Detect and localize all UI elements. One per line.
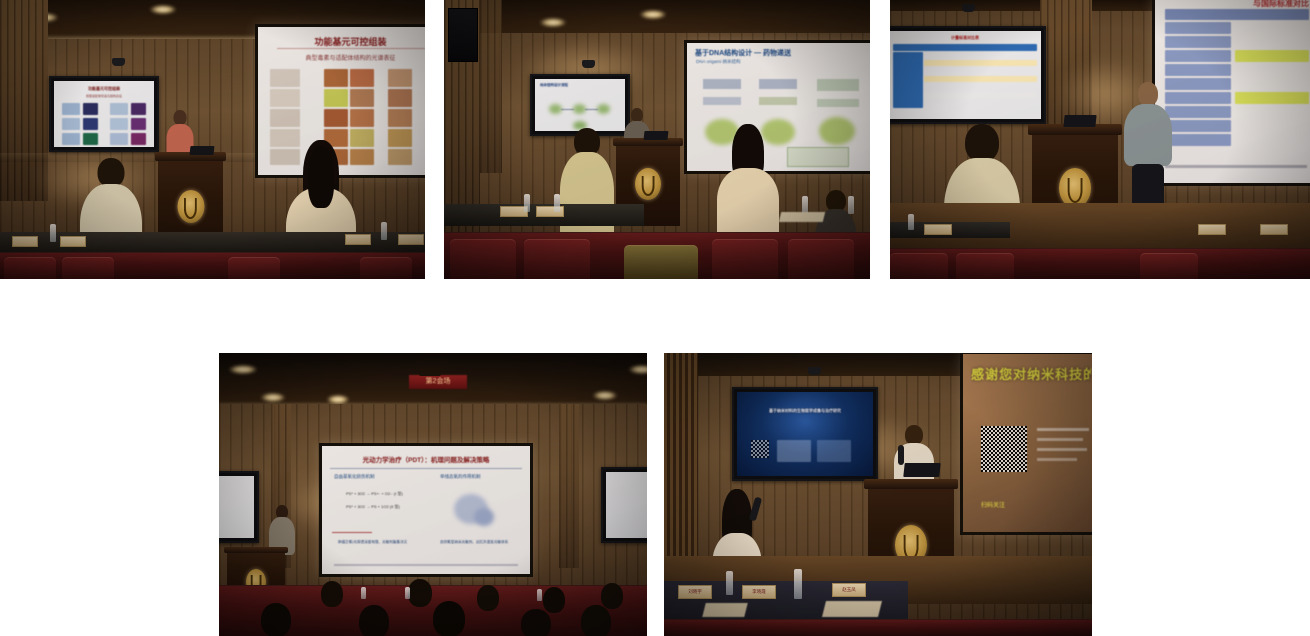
slide-divider [330,468,522,469]
curtain-left [664,353,698,557]
table-header [1165,9,1309,20]
slide-image-cell [388,89,412,107]
water-bottle [537,589,542,601]
ceiling-light [229,365,257,374]
name-placard: 刘晓宇 [678,585,712,599]
slide-divider [332,532,372,533]
presenter-torso [1124,104,1172,166]
tv-slide-cell [62,103,80,115]
tv-slide-cell [62,118,80,130]
podium-top [224,547,288,553]
name-placard [398,234,424,245]
audience-member [259,603,293,636]
slide-section-i: 自由基氧化损伤机制 [334,474,375,480]
tv-slide-title: 计量标准对比表 [898,35,1032,41]
university-crest-icon [177,190,204,223]
table-row-label [1165,78,1231,90]
audience-seat [1140,253,1198,279]
name-placard [12,236,38,247]
tv-table-row [924,76,1037,82]
podium-top [864,479,959,489]
ceiling-camera-icon [808,367,821,375]
laptop [1063,115,1096,127]
audience-seat [228,257,280,279]
slide-chart [817,79,859,91]
table-row-label [1165,120,1231,132]
ceiling-light [261,393,285,402]
audience-seat [624,245,698,279]
name-placard: 赵玉凤 [832,583,866,597]
audience-seat-row [890,248,1310,279]
slide-title: 感谢您对纳米科技的关注 [971,364,1091,383]
tv-slide-cell [83,118,98,130]
projection-screen: 光动力学治疗（PDT）：机理问题及解决策略 自由基氧化损伤机制 单线态氧的作用机… [319,443,533,577]
audience-member [407,579,433,611]
table-row-label [1165,36,1231,48]
tv-table-row [924,92,1037,98]
slide-chart [759,97,797,105]
attendee-head [965,124,999,162]
slide-image-cell [350,89,374,107]
slide-subtitle: DNA origami 纳米结构 [696,59,858,65]
university-crest-icon [1059,168,1091,208]
table-cell-highlight [1235,50,1309,62]
speaker-head [174,110,187,125]
table-row-label [1165,50,1231,62]
audience-seat [360,257,412,279]
lecture-photo-top-right: 计量标准对比表 与国际标准对比 [890,0,1310,279]
tv-slide-title: 纳米结构设计流程 [540,83,620,88]
table-cell-highlight [1235,92,1309,104]
table-row-label [1165,106,1231,118]
audience-head [321,581,343,607]
water-bottle [848,196,854,214]
projector-mount [419,367,441,376]
tv-slide-cell [110,133,128,145]
speaker-head [631,108,643,122]
laptop [190,146,215,155]
tv-slide-title: 功能基元可控组装 [60,86,148,92]
tv-slide-cell [110,103,128,115]
table-row-label [1165,22,1231,34]
water-bottle [405,587,410,599]
laptop [903,463,940,477]
lecture-photo-top-left: 功能基元可控组装 核酸适配体筛选与结构表征 [0,0,425,279]
tv-slide-cell [83,103,98,115]
tv-table-row [924,60,1037,66]
name-placard [1260,224,1288,235]
table-row-label [1165,134,1231,146]
tv-slide-cell [131,118,146,130]
audience-member [431,601,467,636]
tv-screen: 计量标准对比表 [890,31,1041,119]
slide-chart [703,79,741,89]
lecture-photo-top-center: 纳米结构设计流程 基于DNA结构设计 — 药物递送 DNA origami 纳米… [444,0,870,279]
handout-paper [822,601,882,617]
slide-box [787,147,849,167]
side-tv-right [601,467,647,543]
tv-screen: 基于纳米材料的生物医学成像与治疗研究 [737,392,873,476]
lecture-photo-bottom-right: 基于纳米材料的生物医学成像与治疗研究 感谢您对纳米科技的关注 扫码关注 [664,353,1092,636]
tv-screen [219,476,254,538]
slide-chart [817,99,859,107]
audience-head [433,601,465,636]
wall-pillar [0,0,48,201]
slide-text-line [1037,438,1083,441]
audience-seat [62,257,114,279]
slide-image-cell [270,69,300,87]
ceiling-light [150,5,176,14]
slide-text-line [1037,458,1077,461]
water-bottle [524,194,530,212]
tv-screen [606,472,647,538]
slide-chart [703,97,741,105]
slide-footer-1: 肿瘤乏氧/光穿透深度有限、光敏剂聚集淬灭 [338,540,430,545]
photo-collage: 功能基元可控组装 核酸适配体筛选与结构表征 [0,0,1310,636]
audience-seat [450,239,516,279]
attendee-hair-strand [308,146,334,208]
handout-paper [702,603,747,617]
water-bottle [361,587,366,599]
name-placard [60,236,86,247]
water-bottle [50,224,56,242]
ceiling-camera-icon [112,58,125,66]
slide-image-cell [350,69,374,87]
slide-image-cell [324,109,348,127]
table-row-label [1165,64,1231,76]
ceiling-camera-icon [582,60,595,68]
slide-molecule [819,117,855,145]
audience-head [581,605,611,636]
ceiling-light [593,391,617,400]
tv-diagram-node [597,104,610,114]
wall-tv: 基于纳米材料的生物医学成像与治疗研究 [732,387,878,481]
tv-diagram-arrow [561,109,574,110]
audience-seat-row [664,619,1092,636]
attendee-torso [560,152,614,244]
slide-image-cell [324,69,348,87]
audience-member [357,605,391,636]
loudspeaker [448,8,478,62]
lecture-photo-bottom-left: 第2会场 光动力学治疗（PDT）：机理问题及解决策略 自由基氧化损伤机制 单线态… [219,353,647,636]
slide-image-cell [388,129,412,147]
audience-member [579,605,613,636]
water-bottle [554,194,560,212]
slide-qr-caption: 扫码关注 [981,500,1088,509]
slide-image-cell [270,109,300,127]
slide-citation [334,564,518,566]
slide-image-cell [388,149,412,165]
ceiling-camera-icon [962,4,975,12]
audience-seat [788,239,854,279]
slide-image-cell [388,69,412,87]
wall-tv: 纳米结构设计流程 [530,74,630,136]
name-placard: 李晓霞 [742,585,776,599]
audience-member [475,585,501,615]
projection-screen: 感谢您对纳米科技的关注 扫码关注 [960,353,1092,535]
slide-image-cell [324,89,348,107]
laptop [644,131,669,140]
name-placard [924,224,952,235]
audience-member [519,609,553,636]
slide-title: 功能基元可控组装 [269,35,425,48]
audience-head [359,605,389,636]
ceiling-light [640,10,666,19]
tv-slide-cell [131,103,146,115]
slide-section-ii: 单线态氧的作用机制 [440,474,481,480]
water-bottle [381,222,387,240]
tv-slide-photo [777,440,811,462]
audience-head [261,603,291,636]
university-crest-icon [635,168,661,200]
audience-head [408,579,432,607]
tv-screen: 纳米结构设计流程 [535,79,625,131]
audience-member [319,581,345,611]
water-bottle [794,569,802,599]
name-placard [345,234,371,245]
wall-pillar [480,0,502,173]
tv-slide-photo [817,440,851,462]
water-bottle [908,214,914,230]
tv-slide-cell [83,133,98,145]
audience-seat [524,239,590,279]
wall-tv: 功能基元可控组装 核酸适配体筛选与结构表征 [49,76,159,152]
tv-table-header [893,44,1037,51]
slide-subtitle: 典型毒素与适配体结构的光谱表征 [273,53,425,62]
qr-code [981,426,1027,472]
microphone [898,445,904,465]
ceiling-light [327,395,349,404]
slide-divider [277,48,425,49]
handout-paper [779,212,825,222]
audience-seat [890,253,948,279]
slide-footer-2: 自供氧型纳米光敏剂、近红外激发光敏体系 [440,540,522,545]
tv-slide-cell [62,133,80,145]
slide-equation-1: PS* + 3O2 → PS+· + O2-· (I 型) [346,491,403,497]
slide-chart [759,79,797,89]
table-row-label [1165,92,1231,104]
attendee-head [98,158,125,187]
audience-head [477,585,499,611]
speaker-head [905,425,923,445]
tv-slide-cell [110,118,128,130]
tv-slide-subtitle: 核酸适配体筛选与结构表征 [62,94,146,98]
side-tv-left [219,471,259,543]
audience-seat [956,253,1014,279]
slide-illustration [474,508,494,526]
presenter-head [1138,82,1158,106]
ceiling-light [540,18,566,27]
hall-sign: 第2会场 [409,375,467,389]
tv-table-col [893,52,923,108]
slide-title: 与国际标准对比 [1165,0,1309,9]
slide-title: 基于DNA结构设计 — 药物递送 [695,48,862,58]
wall-pillar [559,404,579,568]
tv-screen: 功能基元可控组装 核酸适配体筛选与结构表征 [54,81,154,147]
water-bottle [726,571,733,595]
projection-screen: 与国际标准对比 [1152,0,1310,186]
slide-equation-2: PS* + 3O2 → PS + 1O2 (II 型) [346,504,400,510]
audience-head [521,609,551,636]
slide-image-cell [350,109,374,127]
slide-title: 光动力学治疗（PDT）：机理问题及解决策略 [334,454,517,464]
tv-diagram-arrow [585,109,598,110]
tv-slide-title: 基于纳米材料的生物医学成像与治疗研究 [745,408,865,414]
slide-text-line [1037,428,1089,431]
audience-seat [4,257,56,279]
slide-footnote [1165,165,1307,168]
slide-text-line [1037,448,1087,451]
audience-seat [712,239,778,279]
qr-code [751,440,769,458]
wall-tv: 计量标准对比表 [890,26,1046,124]
slide-image-cell [270,89,300,107]
tv-slide-cell [131,133,146,145]
slide-image-cell [388,109,412,127]
name-placard [1198,224,1226,235]
